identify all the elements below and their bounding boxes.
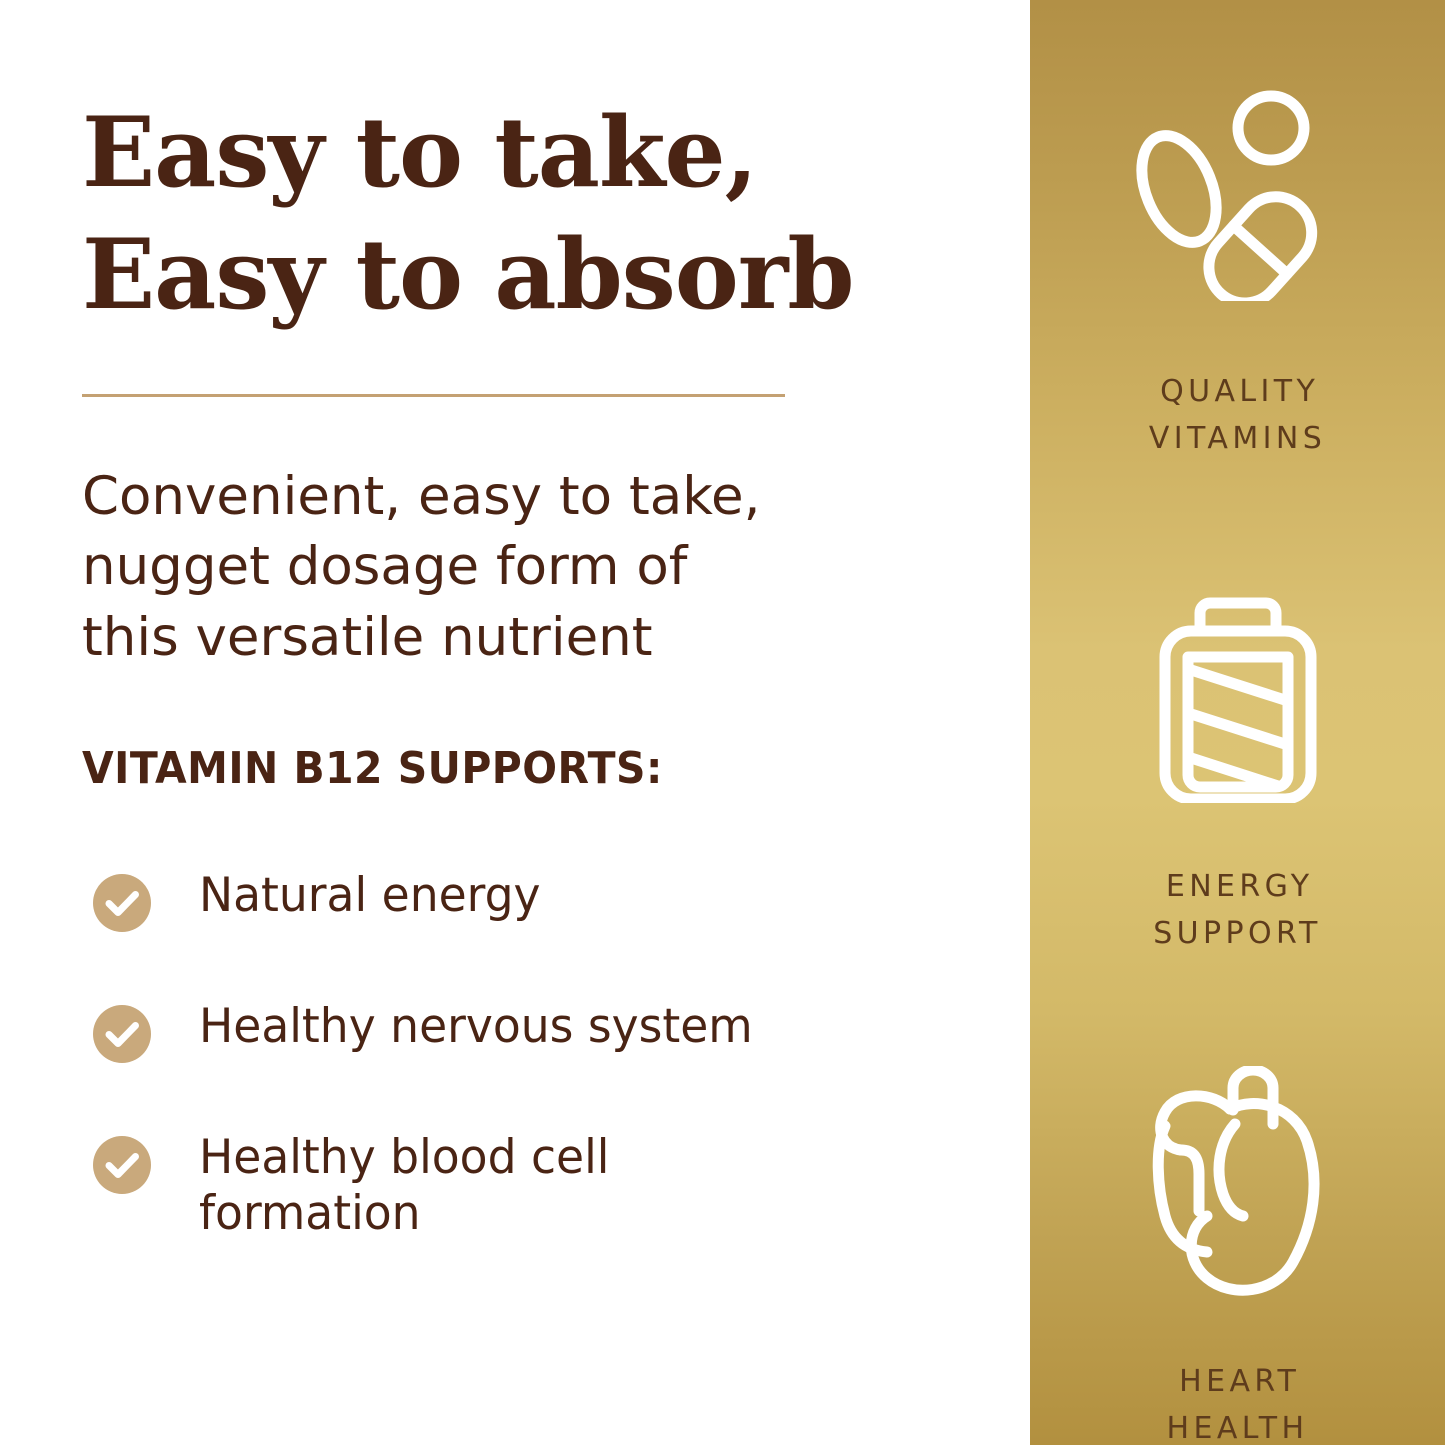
- pills-icon: [1123, 86, 1353, 306]
- list-item-label: Natural energy: [199, 868, 541, 924]
- feature-heart-health: HEART HEALTH: [1030, 1066, 1445, 1445]
- feature-quality-vitamins: QUALITY VITAMINS: [1030, 86, 1445, 463]
- feature-label: ENERGY SUPPORT: [1153, 863, 1322, 958]
- heart-icon: [1135, 1066, 1340, 1306]
- benefits-list: Natural energy Healthy nervous system He…: [93, 868, 953, 1243]
- list-item: Healthy nervous system: [93, 999, 953, 1063]
- page-title: Easy to take, Easy to absorb: [82, 92, 962, 336]
- left-content-column: Easy to take, Easy to absorb Convenient,…: [0, 0, 1030, 1445]
- battery-icon: [1148, 573, 1328, 808]
- check-icon: [93, 1005, 151, 1063]
- list-item: Healthy blood cell formation: [93, 1130, 953, 1243]
- check-icon: [93, 874, 151, 932]
- title-divider-rule: [82, 394, 785, 397]
- check-icon: [93, 1136, 151, 1194]
- features-panel: QUALITY VITAMINS: [1030, 0, 1445, 1445]
- feature-energy-support: ENERGY SUPPORT: [1030, 573, 1445, 958]
- infographic-canvas: Easy to take, Easy to absorb Convenient,…: [0, 0, 1445, 1445]
- list-item: Natural energy: [93, 868, 953, 932]
- list-item-label: Healthy blood cell formation: [199, 1130, 609, 1243]
- list-item-label: Healthy nervous system: [199, 999, 753, 1055]
- product-description: Convenient, easy to take, nugget dosage …: [82, 462, 802, 673]
- supports-heading: VITAMIN B12 SUPPORTS:: [82, 745, 663, 793]
- feature-label: QUALITY VITAMINS: [1149, 368, 1326, 463]
- feature-label: HEART HEALTH: [1167, 1358, 1309, 1445]
